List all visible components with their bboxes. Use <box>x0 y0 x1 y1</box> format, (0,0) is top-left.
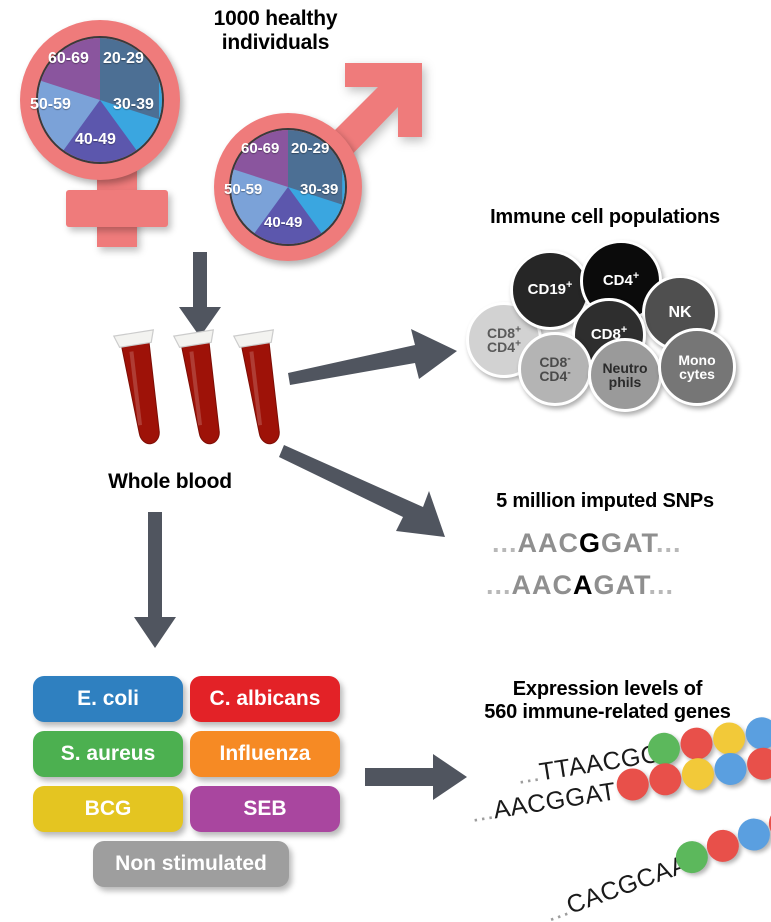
snp-row-2-suffix: ... <box>649 570 675 600</box>
stimuli-pill-seb[interactable]: SEB <box>190 786 340 832</box>
stimuli-pill-influenza-label: Influenza <box>219 742 310 766</box>
immune-cell-cd19p-label: CD19+ <box>528 282 573 297</box>
immune-title: Immune cell populations <box>450 206 760 229</box>
immune-cell-neutrophils: Neutro phils <box>588 338 662 412</box>
stimuli-pill-seb-label: SEB <box>243 797 286 821</box>
female-pie-label-20-29: 20-29 <box>103 50 144 68</box>
stimuli-pill-s-aureus-label: S. aureus <box>61 742 156 766</box>
snp-row-1: ...AACGGAT... <box>492 528 682 559</box>
immune-cell-cd8n-cd4n-line1: CD8- <box>539 355 570 369</box>
immune-cell-monocytes: Mono cytes <box>658 328 736 406</box>
snp-sequences: ...AACGGAT... ...AACAGAT... <box>480 528 750 618</box>
arrow-blood-to-snps <box>275 445 465 555</box>
stimuli-pill-c-albicans[interactable]: C. albicans <box>190 676 340 722</box>
stimuli-pill-e-coli[interactable]: E. coli <box>33 676 183 722</box>
female-symbol: 20-29 30-39 40-49 50-59 60-69 <box>10 12 225 247</box>
dna-strand-2-bead-1 <box>614 766 651 803</box>
female-pie-label-60-69: 60-69 <box>48 50 89 68</box>
snp-row-2: ...AACAGAT... <box>486 570 674 601</box>
snp-row-1-hot: G <box>579 528 601 558</box>
dna-strand-2-bases: AACGGAT <box>491 777 618 824</box>
stimuli-pill-s-aureus[interactable]: S. aureus <box>33 731 183 777</box>
whole-blood-label: Whole blood <box>70 470 270 494</box>
stimuli-pill-c-albicans-label: C. albicans <box>210 687 321 711</box>
snp-row-1-suffix: ... <box>656 528 682 558</box>
immune-cell-monocytes-line1: Mono <box>678 353 715 367</box>
snp-row-1-prefix: ... <box>492 528 518 558</box>
dna-strand-2-sequence: ...AACGGAT <box>469 777 618 829</box>
dna-strand-2-bead-4 <box>712 751 749 788</box>
male-pie-label-60-69: 60-69 <box>241 140 279 157</box>
female-pie-label-40-49: 40-49 <box>75 131 116 149</box>
dna-strand-3-bead-3 <box>733 814 771 855</box>
male-symbol: 20-29 30-39 40-49 50-59 60-69 <box>200 55 430 255</box>
female-pie-label-30-39: 30-39 <box>113 96 154 114</box>
dna-strand-2-bead-5 <box>745 745 771 782</box>
stimuli-pill-influenza[interactable]: Influenza <box>190 731 340 777</box>
stimuli-pill-non-stimulated-label: Non stimulated <box>115 852 267 876</box>
immune-cell-nk-label: NK <box>668 305 691 321</box>
stimuli-pill-bcg[interactable]: BCG <box>33 786 183 832</box>
stimuli-pill-non-stimulated[interactable]: Non stimulated <box>93 841 289 887</box>
immune-cell-monocytes-line2: cytes <box>679 367 715 381</box>
dna-strand-2-bead-2 <box>647 761 684 798</box>
whole-blood-tubes <box>95 330 285 460</box>
dna-strand-3-sequence: ...CACGCAA <box>542 850 692 922</box>
expression-title-line1: Expression levels of <box>450 678 765 701</box>
snp-row-2-hot: A <box>573 570 594 600</box>
immune-cell-cd4p-label: CD4+ <box>603 273 639 288</box>
immune-cell-cd8n-cd4n-line2: CD4- <box>539 369 570 383</box>
female-pie-label-50-59: 50-59 <box>30 96 71 114</box>
female-symbol-stem-horizontal <box>66 190 168 227</box>
arrow-cohort-to-blood <box>170 252 230 342</box>
stimuli-pill-bcg-label: BCG <box>85 797 132 821</box>
snp-row-2-prefix: ... <box>486 570 512 600</box>
snp-row-2-pre: AAC <box>512 570 574 600</box>
figure-canvas: 1000 healthy individuals 20-29 30-39 40-… <box>0 0 771 922</box>
male-pie-label-30-39: 30-39 <box>300 181 338 198</box>
snp-row-1-pre: AAC <box>518 528 580 558</box>
snps-title: 5 million imputed SNPs <box>455 490 755 513</box>
dna-strand-3-bases: CACGCAA <box>563 850 692 920</box>
male-pie-label-40-49: 40-49 <box>264 214 302 231</box>
immune-cell-cd8p-cd4p-line2: CD4+ <box>487 340 521 354</box>
male-pie-label-50-59: 50-59 <box>224 181 262 198</box>
immune-cell-cd8n-cd4n: CD8- CD4- <box>518 332 592 406</box>
immune-cell-cluster: CD8+ CD4+ CD19+ CD4+ NK CD8+ CD8- CD4- N… <box>460 240 760 415</box>
arrow-blood-to-stimuli <box>125 512 185 652</box>
dna-strands: ...TTAACGG ...AACGGAT ...CACGCAA <box>440 740 771 920</box>
stimuli-panel: E. coli C. albicans S. aureus Influenza … <box>30 676 350 896</box>
stimuli-pill-e-coli-label: E. coli <box>77 687 139 711</box>
snp-row-2-post: GAT <box>594 570 649 600</box>
snp-row-1-post: GAT <box>601 528 656 558</box>
immune-cell-neutrophils-line2: phils <box>609 375 642 389</box>
arrow-blood-to-cells <box>285 325 465 405</box>
dna-strand-2-bead-3 <box>680 756 717 793</box>
male-pie-label-20-29: 20-29 <box>291 140 329 157</box>
immune-cell-neutrophils-line1: Neutro <box>602 361 647 375</box>
